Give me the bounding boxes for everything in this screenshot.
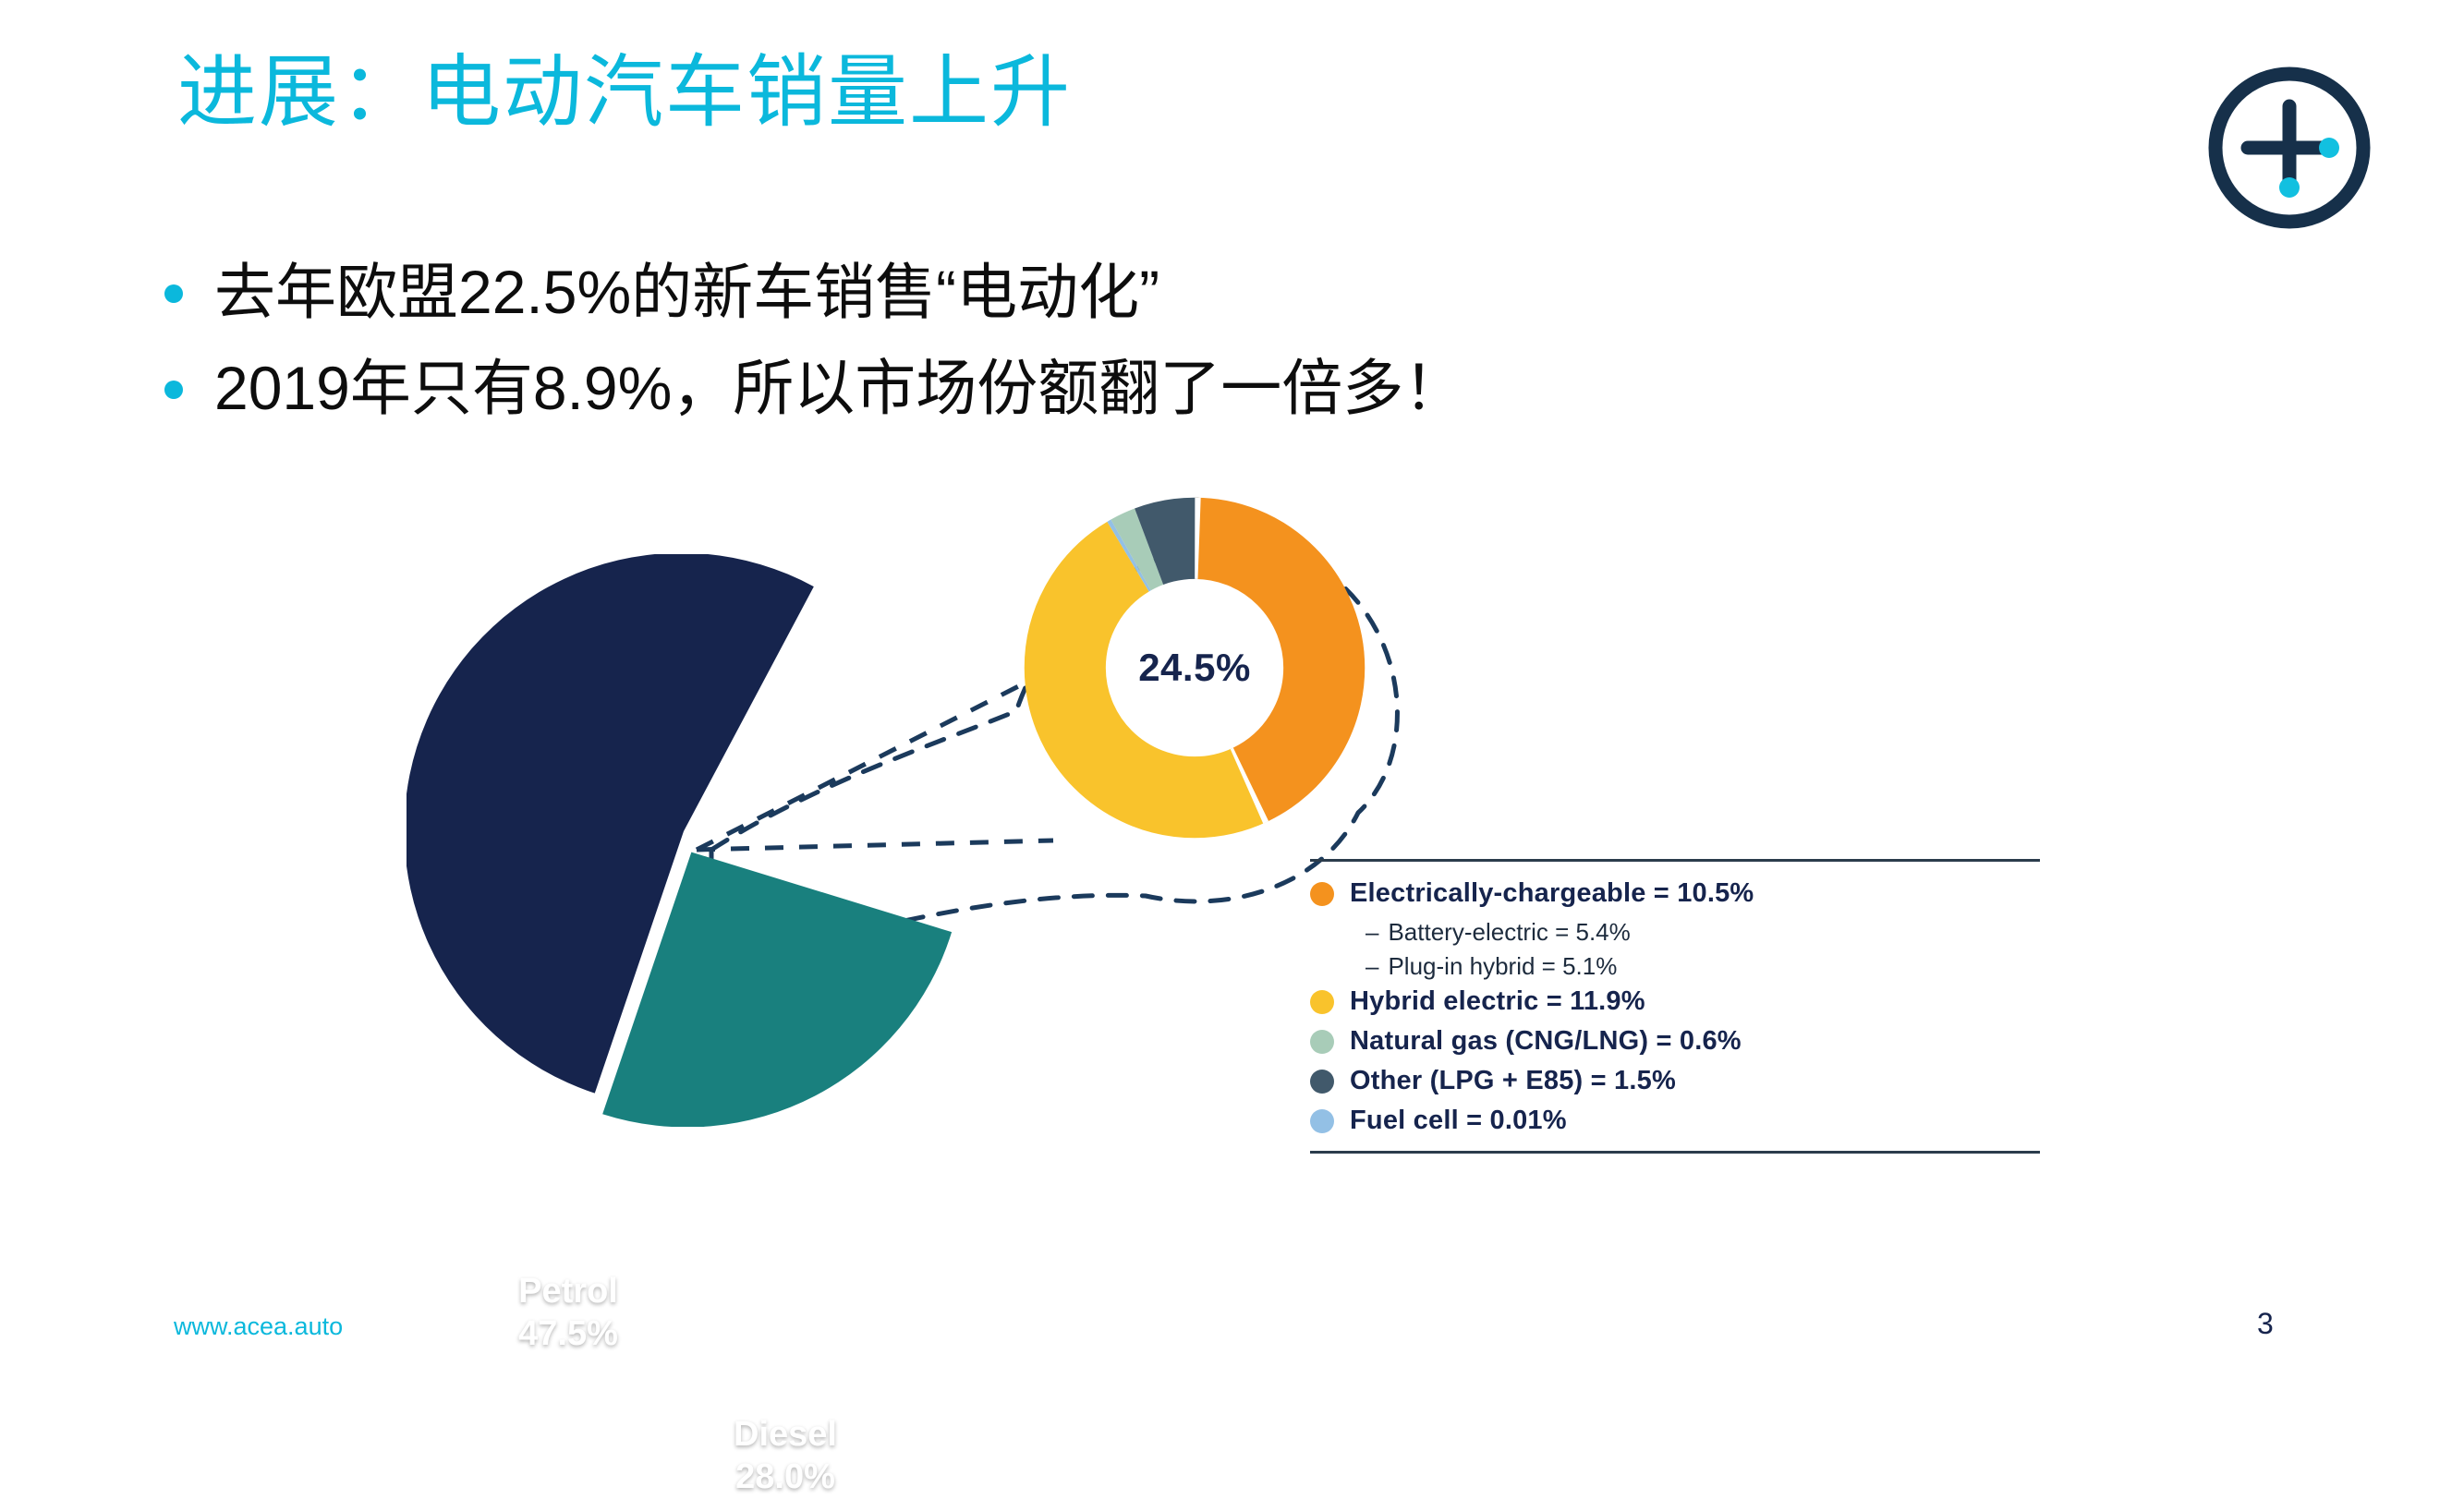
donut-hub xyxy=(1109,582,1281,755)
pie-svg xyxy=(407,554,979,1127)
fuel-type-share-pie xyxy=(407,554,979,1127)
bullet-dot-icon xyxy=(164,284,183,303)
legend-item-label: Fuel cell = 0.01% xyxy=(1350,1106,1567,1136)
chart-legend: Electrically-chargeable = 10.5% –Battery… xyxy=(1310,859,2049,1154)
legend-item-fuel-cell[interactable]: Fuel cell = 0.01% xyxy=(1310,1106,2049,1136)
legend-subitem-label: Plug-in hybrid = 5.1% xyxy=(1388,952,1617,980)
legend-swatch-icon xyxy=(1310,1030,1334,1054)
legend-item-natural-gas[interactable]: Natural gas (CNG/LNG) = 0.6% xyxy=(1310,1026,2049,1057)
legend-subitem-label: Battery-electric = 5.4% xyxy=(1388,918,1630,946)
legend-item-other[interactable]: Other (LPG + E85) = 1.5% xyxy=(1310,1066,2049,1096)
bullet-text: 去年欧盟22.5%的新车销售“电动化” xyxy=(214,251,1159,334)
bullet-list: 去年欧盟22.5%的新车销售“电动化” 2019年只有8.9%，所以市场份额翻了… xyxy=(164,251,1920,443)
legend-item-label: Hybrid electric = 11.9% xyxy=(1350,986,1645,1017)
dash-icon: – xyxy=(1366,918,1378,946)
chart-area: Petrol 47.5% Diesel 28.0% 24.5% xyxy=(0,480,2464,1312)
legend-subitem-plug-in-hybrid: –Plug-in hybrid = 5.1% xyxy=(1366,952,2049,981)
legend-item-hybrid-electric[interactable]: Hybrid electric = 11.9% xyxy=(1310,986,2049,1017)
bullet-text: 2019年只有8.9%，所以市场份额翻了一倍多！ xyxy=(214,347,1464,430)
legend-swatch-icon xyxy=(1310,1109,1334,1133)
bullet-dot-icon xyxy=(164,381,183,399)
page-title: 进展：电动汽车销量上升 xyxy=(177,48,1072,137)
page-number: 3 xyxy=(2257,1307,2274,1341)
acea-plus-logo xyxy=(2199,57,2380,238)
plus-circle-icon xyxy=(2199,57,2380,238)
footer-website-link[interactable]: www.acea.auto xyxy=(174,1312,343,1341)
bullet-item: 去年欧盟22.5%的新车销售“电动化” xyxy=(164,251,1920,334)
legend-swatch-icon xyxy=(1310,1070,1334,1094)
pie-label-diesel: Diesel 28.0% xyxy=(684,1413,887,1499)
legend-divider-bottom xyxy=(1310,1151,2040,1154)
dash-icon: – xyxy=(1366,952,1378,980)
legend-item-label: Electrically-chargeable = 10.5% xyxy=(1350,878,1754,909)
donut-svg xyxy=(1024,497,1366,839)
pie-label-diesel-name: Diesel xyxy=(684,1413,887,1456)
legend-item-label: Other (LPG + E85) = 1.5% xyxy=(1350,1066,1676,1096)
legend-item-label: Natural gas (CNG/LNG) = 0.6% xyxy=(1350,1026,1742,1057)
electrified-breakdown-donut: 24.5% xyxy=(1024,497,1366,839)
legend-subitem-battery-electric: –Battery-electric = 5.4% xyxy=(1366,918,2049,947)
pie-label-petrol-value: 47.5% xyxy=(467,1312,670,1355)
legend-item-electrically-chargeable[interactable]: Electrically-chargeable = 10.5% xyxy=(1310,878,2049,909)
bullet-item: 2019年只有8.9%，所以市场份额翻了一倍多！ xyxy=(164,347,1920,430)
pie-label-diesel-value: 28.0% xyxy=(684,1456,887,1498)
legend-swatch-icon xyxy=(1310,882,1334,906)
legend-swatch-icon xyxy=(1310,990,1334,1014)
